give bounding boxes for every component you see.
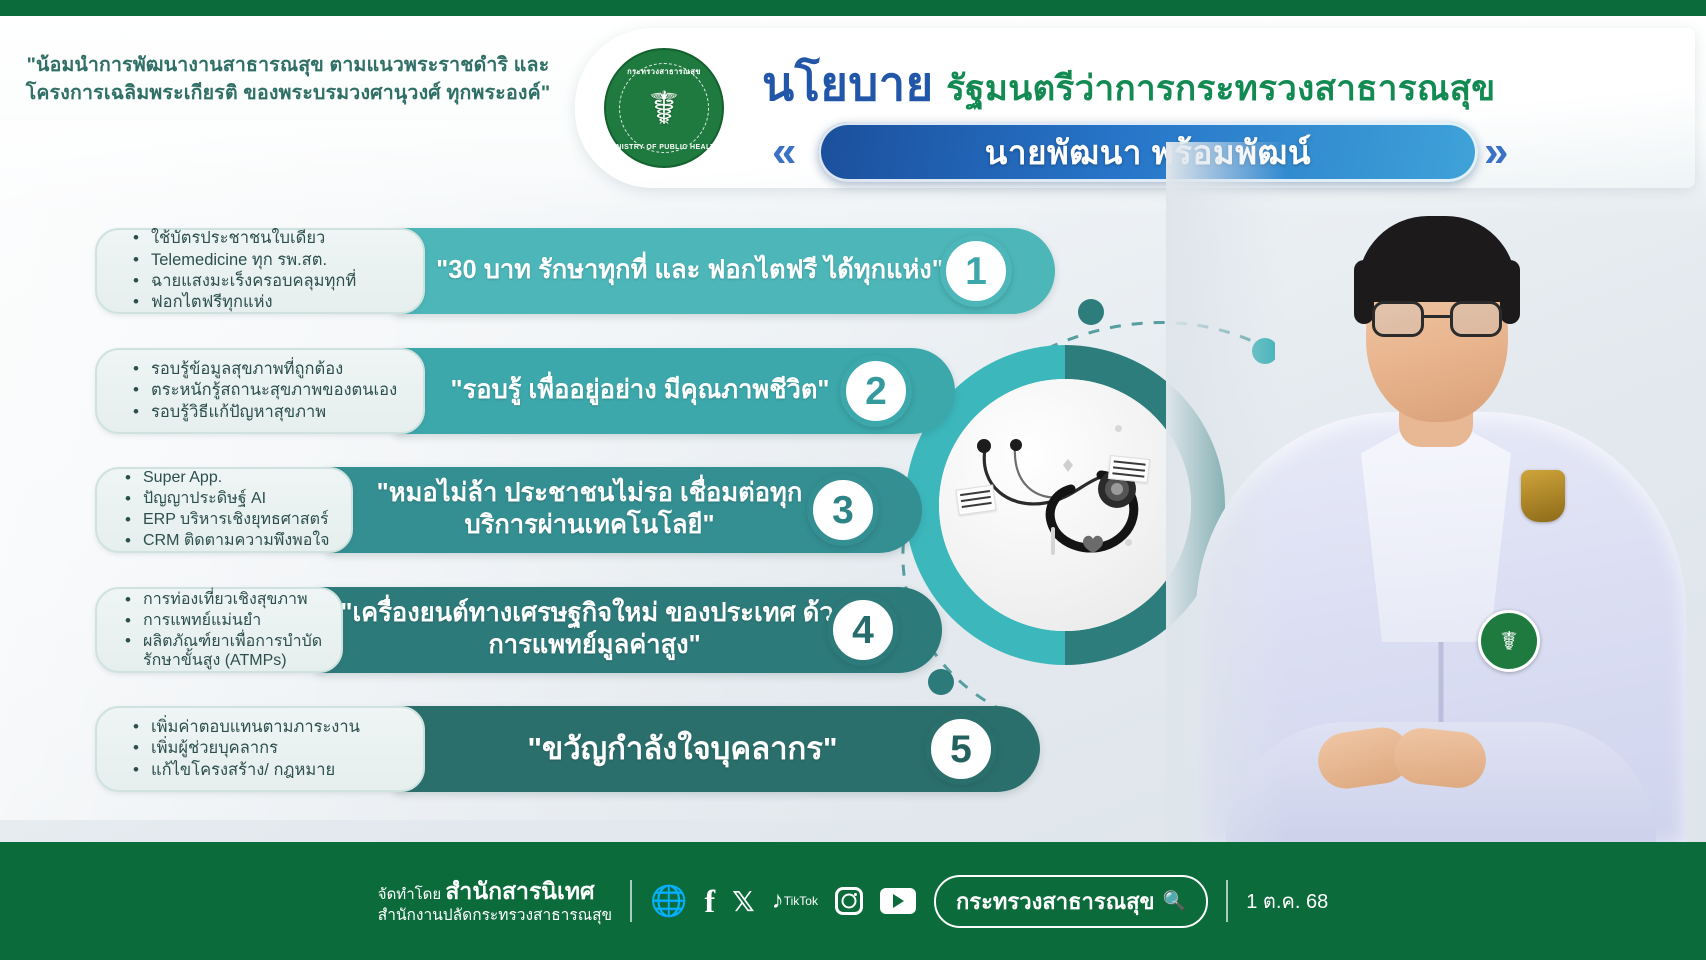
instagram-icon[interactable] <box>835 887 863 915</box>
policy-bullets-card: Super App. ปัญญาประดิษฐ์ AI ERP บริหารเช… <box>95 467 353 553</box>
list-item: รอบรู้วิธีแก้ปัญหาสุขภาพ <box>131 402 397 423</box>
list-item: แก้ไขโครงสร้าง/ กฎหมาย <box>131 760 360 781</box>
eyeglasses-icon <box>1370 301 1504 337</box>
organization-name: สำนักสารนิเทศ <box>445 878 594 904</box>
list-item: ปัญญาประดิษฐ์ AI <box>123 489 330 510</box>
search-pill[interactable]: กระทรวงสาธารณสุข 🔍 <box>934 875 1208 928</box>
list-item: Telemedicine ทุก รพ.สต. <box>131 250 356 271</box>
policy-slogan: "รอบรู้ เพื่ออยู่อย่าง มีคุณภาพชีวิต" <box>450 375 829 407</box>
list-item: การท่องเที่ยวเชิงสุขภาพ <box>123 590 323 611</box>
policy-bullets-card: การท่องเที่ยวเชิงสุขภาพ การแพทย์แม่นยำ ผ… <box>95 587 343 673</box>
organization-sub: สำนักงานปลัดกระทรวงสาธารณสุข <box>378 906 612 925</box>
list-item: Super App. <box>123 468 330 489</box>
list-item: ฉายแสงมะเร็งครอบคลุมทุกที่ <box>131 271 356 292</box>
uniform-gold-insignia <box>1521 470 1565 522</box>
list-item: การแพทย์แม่นยำ <box>123 611 323 632</box>
policy-number-badge: 3 <box>807 474 879 546</box>
policy-bullets-card: เพิ่มค่าตอบแทนตามภาระงาน เพิ่มผู้ช่วยบุค… <box>95 706 425 792</box>
list-item: เพิ่มผู้ช่วยบุคลากร <box>131 738 360 759</box>
uniform-ministry-badge: ☤ <box>1478 610 1540 672</box>
ministry-logo-thai-label: กระทรวงสาธารณสุข <box>606 66 722 78</box>
donut-photo <box>939 379 1191 631</box>
list-item: ตระหนักรู้สถานะสุขภาพของตนเอง <box>131 380 397 401</box>
search-pill-label: กระทรวงสาธารณสุข <box>956 884 1155 919</box>
policy-slogan: "30 บาท รักษาทุกที่ และ ฟอกไตฟรี ได้ทุกแ… <box>436 255 944 287</box>
document-slip <box>955 484 996 515</box>
footer: จัดทำโดย สำนักสารนิเทศ สำนักงานปลัดกระทร… <box>0 842 1706 960</box>
policy-slogan: "ขวัญกำลังใจบุคลากร" <box>527 730 837 769</box>
title-primary: นโยบาย <box>762 57 934 110</box>
ministry-logo: กระทรวงสาธารณสุข ☤ MINISTRY OF PUBLIC HE… <box>598 42 730 174</box>
policy-number-badge: 4 <box>827 594 899 666</box>
footer-divider <box>630 880 632 922</box>
list-item: รอบรู้ข้อมูลสุขภาพที่ถูกต้อง <box>131 359 397 380</box>
prepared-by-label: จัดทำโดย <box>378 886 441 903</box>
policy-number-badge: 2 <box>840 355 912 427</box>
ministry-logo-english-label: MINISTRY OF PUBLIC HEALTH <box>606 144 722 151</box>
policy-number: 3 <box>832 491 854 530</box>
list-item: ใช้บัตรประชาชนใบเดียว <box>131 228 356 249</box>
list-item: เพิ่มค่าตอบแทนตามภาระงาน <box>131 717 360 738</box>
policy-number: 4 <box>852 611 874 650</box>
policy-number: 1 <box>965 252 987 291</box>
page-title: นโยบาย รัฐมนตรีว่าการกระทรวงสาธารณสุข <box>762 46 1496 121</box>
royal-initiative-quote: "น้อมนำการพัฒนางานสาธารณสุข ตามแนวพระราช… <box>18 52 558 107</box>
minister-portrait: ☤ <box>1166 142 1706 842</box>
portrait-edge-fade <box>1166 142 1286 842</box>
x-twitter-icon[interactable]: 𝕏 <box>732 885 755 918</box>
policy-number: 2 <box>865 372 887 411</box>
policy-number-badge: 1 <box>940 235 1012 307</box>
globe-icon[interactable]: 🌐 <box>650 884 687 919</box>
chevron-left-icon: « <box>772 130 796 174</box>
infographic-canvas: "น้อมนำการพัฒนางานสาธารณสุข ตามแนวพระราช… <box>0 0 1706 960</box>
title-secondary: รัฐมนตรีว่าการกระทรวงสาธารณสุข <box>946 69 1495 108</box>
policy-slogan: "หมอไม่ล้า ประชาชนไม่รอ เชื่อมต่อทุกบริก… <box>349 478 830 542</box>
portrait-hair <box>1358 216 1516 302</box>
tiktok-icon[interactable]: ♪ TikTok <box>772 889 818 913</box>
policy-number-badge: 5 <box>925 713 997 785</box>
policy-number: 5 <box>950 730 972 769</box>
publish-date: 1 ต.ค. 68 <box>1246 885 1328 917</box>
list-item: ERP บริหารเชิงยุทธศาสตร์ <box>123 510 330 531</box>
pill-dot <box>1115 425 1122 432</box>
caduceus-icon: ☤ <box>606 85 722 131</box>
tiktok-label: TikTok <box>784 895 818 907</box>
search-icon: 🔍 <box>1163 889 1187 913</box>
ministry-logo-ring: กระทรวงสาธารณสุข ☤ MINISTRY OF PUBLIC HE… <box>604 48 724 168</box>
stethoscope-icon <box>967 431 1167 581</box>
list-item: CRM ติดตามความพึงพอใจ <box>123 531 330 552</box>
policy-bullets-card: ใช้บัตรประชาชนใบเดียว Telemedicine ทุก ร… <box>95 228 425 314</box>
policy-bullets-card: รอบรู้ข้อมูลสุขภาพที่ถูกต้อง ตระหนักรู้ส… <box>95 348 425 434</box>
footer-divider <box>1226 880 1228 922</box>
policy-slogan: "เครื่องยนต์ทางเศรษฐกิจใหม่ ของประเทศ ด้… <box>339 598 850 662</box>
top-green-bar <box>0 0 1706 16</box>
footer-organization: จัดทำโดย สำนักสารนิเทศ สำนักงานปลัดกระทร… <box>378 877 612 925</box>
facebook-icon[interactable]: f <box>705 883 716 920</box>
document-slip <box>1108 455 1150 483</box>
pill-dot <box>1125 539 1132 546</box>
footer-social-icons: 🌐 f 𝕏 ♪ TikTok <box>650 883 916 920</box>
list-item: ผลิตภัณฑ์ยาเพื่อการบำบัด รักษาขั้นสูง (A… <box>123 632 323 670</box>
list-item: ฟอกไตฟรีทุกแห่ง <box>131 292 356 313</box>
youtube-icon[interactable] <box>880 888 916 914</box>
